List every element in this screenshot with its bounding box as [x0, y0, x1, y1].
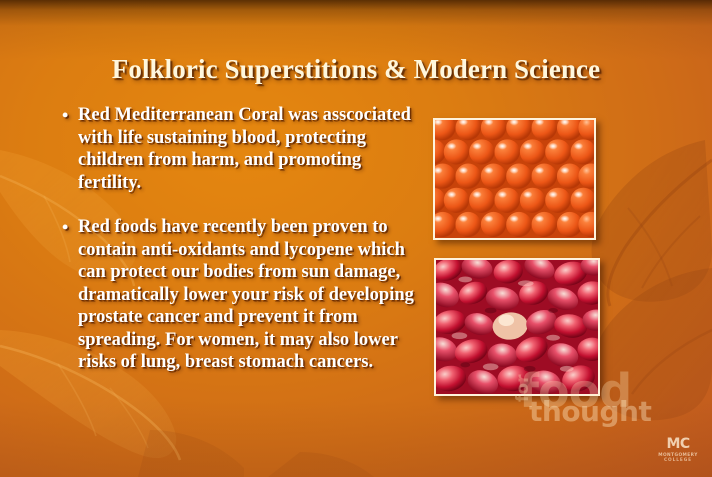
bullet-marker-icon: •	[62, 216, 78, 374]
slide-title: Folkloric Superstitions & Modern Science	[0, 54, 712, 85]
watermark-word-thought: thought	[529, 398, 651, 426]
bullet-marker-icon: •	[62, 104, 78, 194]
red-coral-beads-photo	[433, 118, 596, 240]
bullet-item: • Red Mediterranean Coral was asscociate…	[62, 104, 414, 194]
mc-org-name: MONTGOMERY	[655, 453, 701, 458]
coral-beads-illustration	[435, 120, 594, 238]
pomegranate-seeds-photo	[434, 258, 600, 396]
bullet-text: Red Mediterranean Coral was asscociated …	[78, 104, 414, 194]
slide-body-bullets: • Red Mediterranean Coral was asscociate…	[62, 104, 414, 374]
pomegranate-seeds-illustration	[436, 260, 598, 394]
mc-monogram: MC	[655, 437, 701, 451]
bullet-item: • Red foods have recently been proven to…	[62, 216, 414, 374]
bullet-text: Red foods have recently been proven to c…	[78, 216, 414, 374]
presentation-slide: Folkloric Superstitions & Modern Science…	[0, 0, 712, 477]
mc-org-subname: COLLEGE	[655, 458, 701, 463]
montgomery-college-logo: MC MONTGOMERY COLLEGE	[655, 437, 701, 467]
